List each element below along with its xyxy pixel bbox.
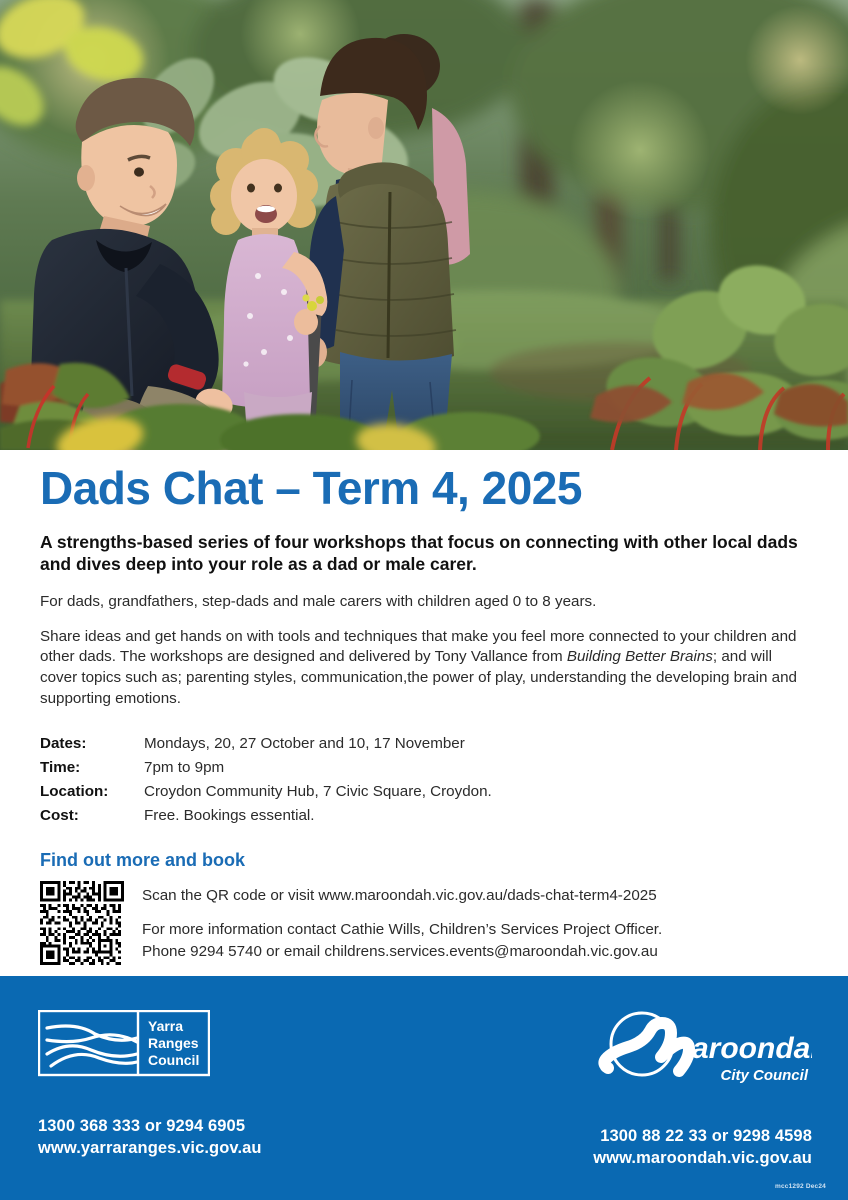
detail-value-location: Croydon Community Hub, 7 Civic Square, C… — [144, 780, 492, 804]
maroondah-contact: 1300 88 22 33 or 9298 4598 www.maroondah… — [593, 1126, 812, 1170]
hero-photo-illustration — [0, 0, 848, 450]
contact-line-1: For more information contact Cathie Will… — [142, 921, 662, 938]
table-row: Dates: Mondays, 20, 27 October and 10, 1… — [40, 732, 492, 756]
scan-line: Scan the QR code or visit www.maroondah.… — [142, 885, 662, 907]
detail-label-dates: Dates: — [40, 732, 144, 756]
maroondah-logo-sub: City Council — [720, 1067, 808, 1084]
booking-text: Scan the QR code or visit www.maroondah.… — [142, 881, 662, 962]
detail-value-cost: Free. Bookings essential. — [144, 804, 492, 828]
maroondah-logo-word: aroondah — [692, 1032, 812, 1065]
audience-paragraph: For dads, grandfathers, step-dads and ma… — [40, 592, 808, 613]
hero-photo — [0, 0, 848, 450]
qr-code[interactable] — [40, 881, 124, 965]
page-title: Dads Chat – Term 4, 2025 — [40, 464, 808, 513]
contact-line-2: Phone 9294 5740 or email childrens.servi… — [142, 943, 658, 960]
yarra-logo-line3: Council — [148, 1052, 199, 1068]
qr-code-icon — [40, 881, 124, 965]
detail-value-dates: Mondays, 20, 27 October and 10, 17 Novem… — [144, 732, 492, 756]
table-row: Time: 7pm to 9pm — [40, 756, 492, 780]
yarra-web[interactable]: www.yarraranges.vic.gov.au — [38, 1138, 262, 1160]
yarra-phone: 1300 368 333 or 9294 6905 — [38, 1116, 262, 1138]
maroondah-phone: 1300 88 22 33 or 9298 4598 — [593, 1126, 812, 1148]
yarra-ranges-block: Yarra Ranges Council 1300 368 333 or 929… — [38, 1010, 262, 1170]
description-italic: Building Better Brains — [567, 648, 713, 665]
table-row: Cost: Free. Bookings essential. — [40, 804, 492, 828]
booking-row: Scan the QR code or visit www.maroondah.… — [40, 881, 808, 965]
find-out-more-heading: Find out more and book — [40, 850, 808, 871]
footer-inner: Yarra Ranges Council 1300 368 333 or 929… — [0, 976, 848, 1170]
event-details-table: Dates: Mondays, 20, 27 October and 10, 1… — [40, 732, 492, 828]
detail-label-location: Location: — [40, 780, 144, 804]
description-paragraph: Share ideas and get hands on with tools … — [40, 627, 808, 711]
table-row: Location: Croydon Community Hub, 7 Civic… — [40, 780, 492, 804]
yarra-contact: 1300 368 333 or 9294 6905 www.yarrarange… — [38, 1116, 262, 1160]
print-code: mcc1292 Dec24 — [775, 1183, 826, 1190]
detail-label-cost: Cost: — [40, 804, 144, 828]
contact-lines: For more information contact Cathie Will… — [142, 919, 662, 962]
footer: Yarra Ranges Council 1300 368 333 or 929… — [0, 976, 848, 1200]
maroondah-web[interactable]: www.maroondah.vic.gov.au — [593, 1148, 812, 1170]
yarra-logo-line1: Yarra — [148, 1018, 183, 1034]
maroondah-logo: aroondah City Council — [590, 1010, 812, 1092]
poster-content: Dads Chat – Term 4, 2025 A strengths-bas… — [0, 450, 848, 965]
yarra-ranges-logo-icon: Yarra Ranges Council — [38, 1010, 210, 1082]
lede-paragraph: A strengths-based series of four worksho… — [40, 531, 808, 576]
detail-value-time: 7pm to 9pm — [144, 756, 492, 780]
yarra-logo-line2: Ranges — [148, 1035, 199, 1051]
yarra-ranges-logo: Yarra Ranges Council — [38, 1010, 210, 1082]
maroondah-block: aroondah City Council 1300 88 22 33 or 9… — [590, 1010, 812, 1170]
detail-label-time: Time: — [40, 756, 144, 780]
maroondah-logo-icon: aroondah City Council — [590, 1010, 812, 1092]
